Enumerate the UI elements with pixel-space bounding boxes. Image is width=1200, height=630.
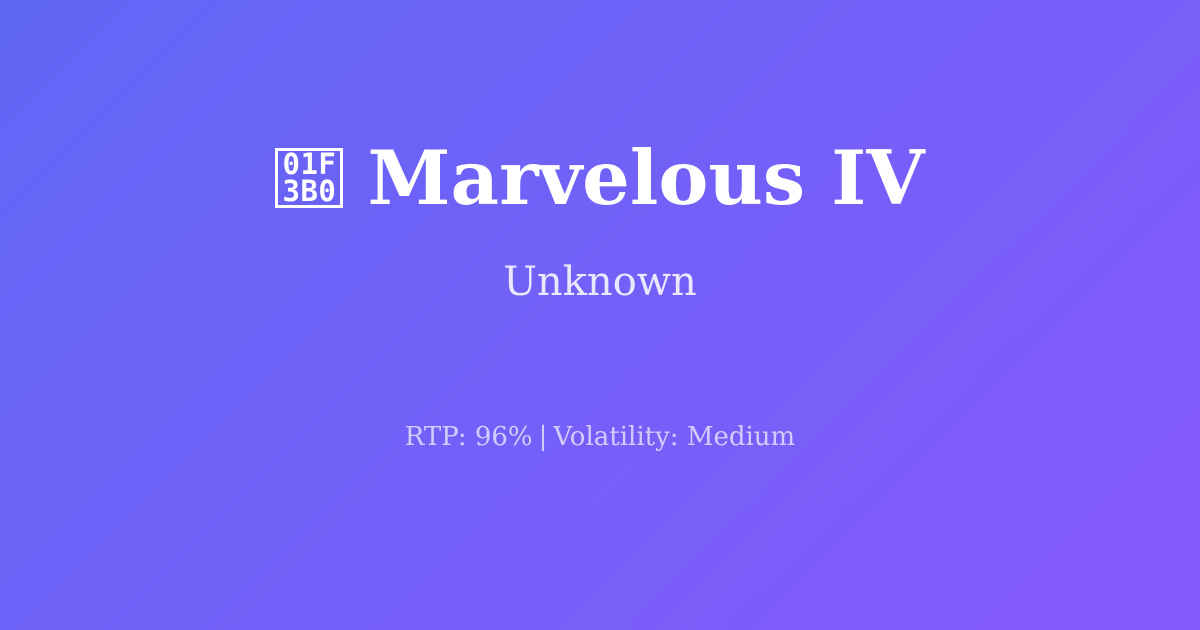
title-row: 01F 3B0 Marvelous IV (275, 139, 924, 218)
rtp-value: RTP: 96% (405, 422, 533, 452)
volatility-value: Volatility: Medium (553, 422, 795, 452)
slot-machine-icon: 01F 3B0 (275, 148, 343, 208)
stats-separator: | (533, 422, 554, 452)
game-info-card: 01F 3B0 Marvelous IV Unknown RTP: 96%|Vo… (0, 0, 1200, 630)
codepoint-low: 3B0 (283, 178, 337, 206)
page-title: Marvelous IV (367, 139, 924, 218)
game-stats: RTP: 96%|Volatility: Medium (405, 422, 795, 453)
subtitle: Unknown (503, 260, 697, 304)
